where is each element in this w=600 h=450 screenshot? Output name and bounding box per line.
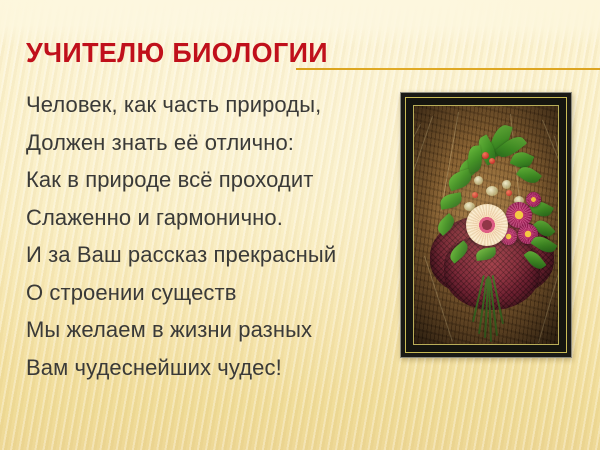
poem-line: И за Ваш рассказ прекрасный (26, 236, 386, 274)
bouquet-photo (413, 105, 559, 345)
poem-line: Должен знать её отлично: (26, 124, 386, 162)
poem-line: Слаженно и гармонично. (26, 199, 386, 237)
title-underline-rule (296, 68, 600, 70)
poem-text-block: Человек, как часть природы, Должен знать… (26, 86, 386, 386)
poem-line: Вам чудеснейших чудес! (26, 349, 386, 387)
photo-frame (400, 92, 572, 358)
poem-line: Человек, как часть природы, (26, 86, 386, 124)
photo-gold-mat (405, 97, 567, 353)
slide: УЧИТЕЛЮ БИОЛОГИИ Человек, как часть прир… (0, 0, 600, 450)
slide-title: УЧИТЕЛЮ БИОЛОГИИ (26, 38, 328, 68)
poem-line: Как в природе всё проходит (26, 161, 386, 199)
poem-line: О строении существ (26, 274, 386, 312)
poem-line: Мы желаем в жизни разных (26, 311, 386, 349)
photo-vignette (414, 106, 558, 344)
